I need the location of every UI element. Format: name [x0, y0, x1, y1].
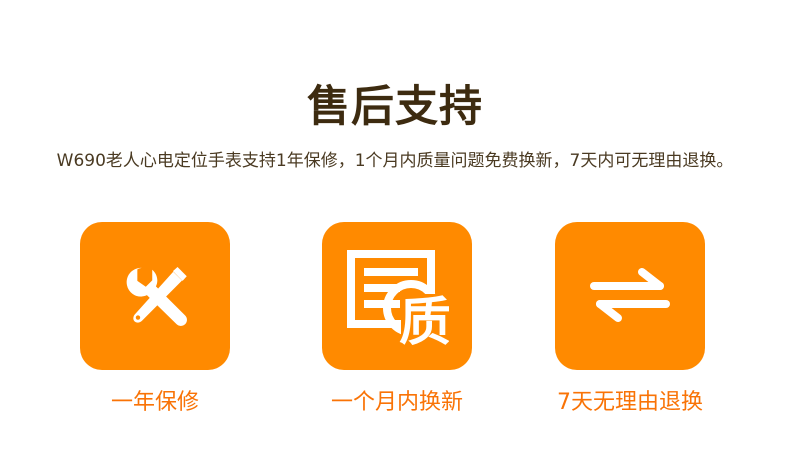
feature-label-replacement: 一个月内换新: [302, 389, 492, 417]
page-title: 售后支持: [0, 80, 790, 134]
feature-tile-replacement: 质: [322, 222, 472, 370]
feature-label-return: 7天无理由退换: [535, 389, 725, 417]
after-sales-support-page: 售后支持 W690老人心电定位手表支持1年保修，1个月内质量问题免费换新，7天内…: [0, 0, 790, 476]
svg-text:质: 质: [399, 293, 449, 346]
feature-item-replacement: 质 一个月内换新: [302, 222, 492, 417]
feature-label-warranty: 一年保修: [60, 389, 250, 417]
feature-list: 一年保修: [0, 222, 790, 422]
feature-tile-warranty: [80, 222, 230, 370]
feature-item-return: 7天无理由退换: [535, 222, 725, 417]
feature-item-warranty: 一年保修: [60, 222, 250, 417]
page-subtitle: W690老人心电定位手表支持1年保修，1个月内质量问题免费换新，7天内可无理由退…: [0, 148, 790, 174]
feature-tile-return: [555, 222, 705, 370]
